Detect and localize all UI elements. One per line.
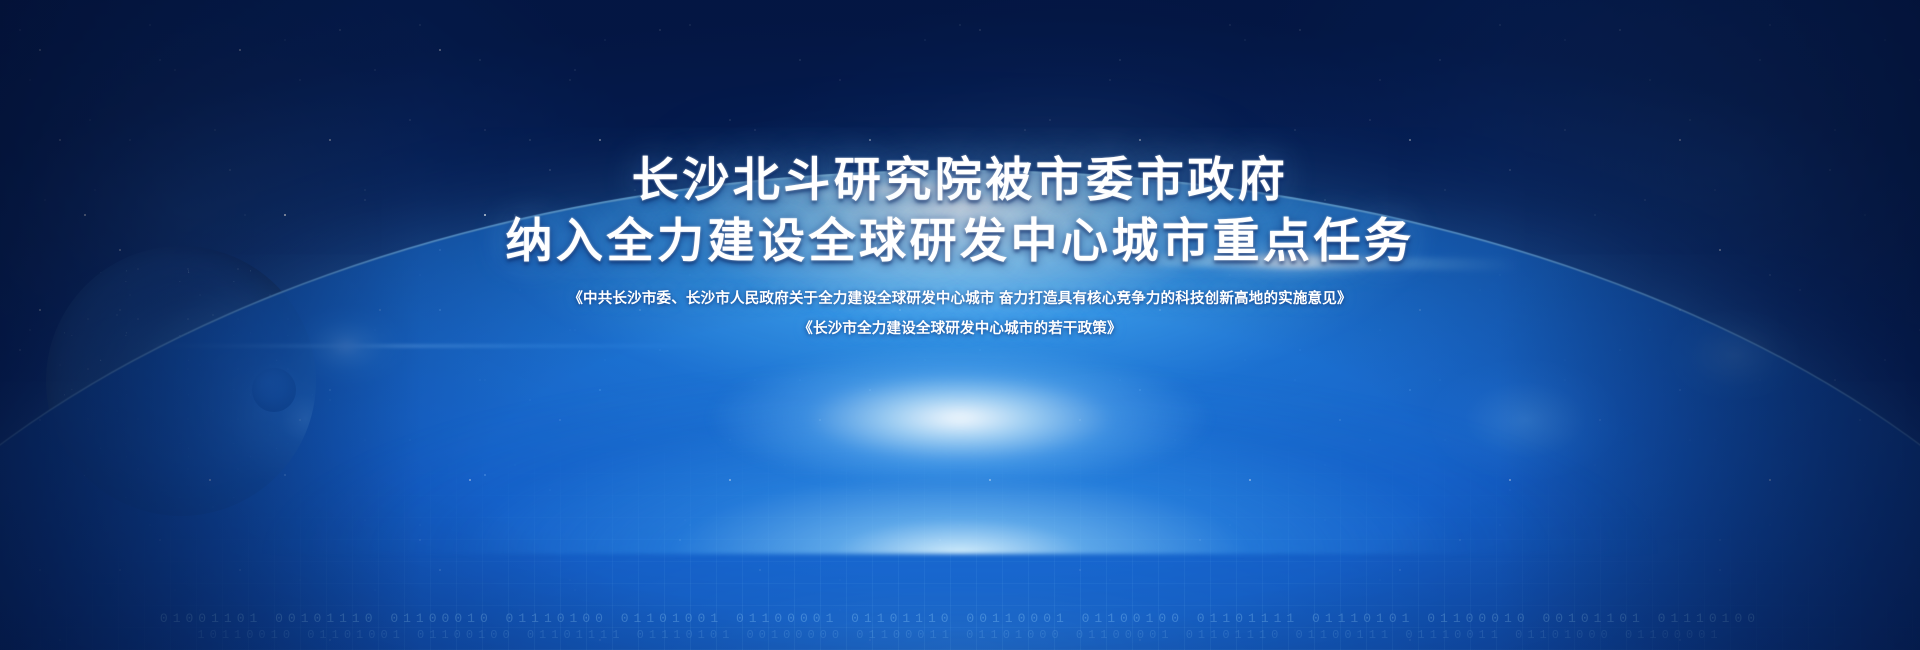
banner-subtitle-policy-opinion: 《中共长沙市委、长沙市人民政府关于全力建设全球研发中心城市 奋力打造具有核心竞争… [0,286,1920,312]
hero-banner: 01001101 00101110 01100010 01110100 0110… [0,0,1920,650]
banner-text-block: 长沙北斗研究院被市委市政府 纳入全力建设全球研发中心城市重点任务 《中共长沙市委… [0,152,1920,342]
banner-title-line-2: 纳入全力建设全球研发中心城市重点任务 [0,213,1920,268]
banner-title-line-1: 长沙北斗研究院被市委市政府 [0,152,1920,207]
banner-subtitle-policy-measures: 《长沙市全力建设全球研发中心城市的若干政策》 [0,316,1920,342]
